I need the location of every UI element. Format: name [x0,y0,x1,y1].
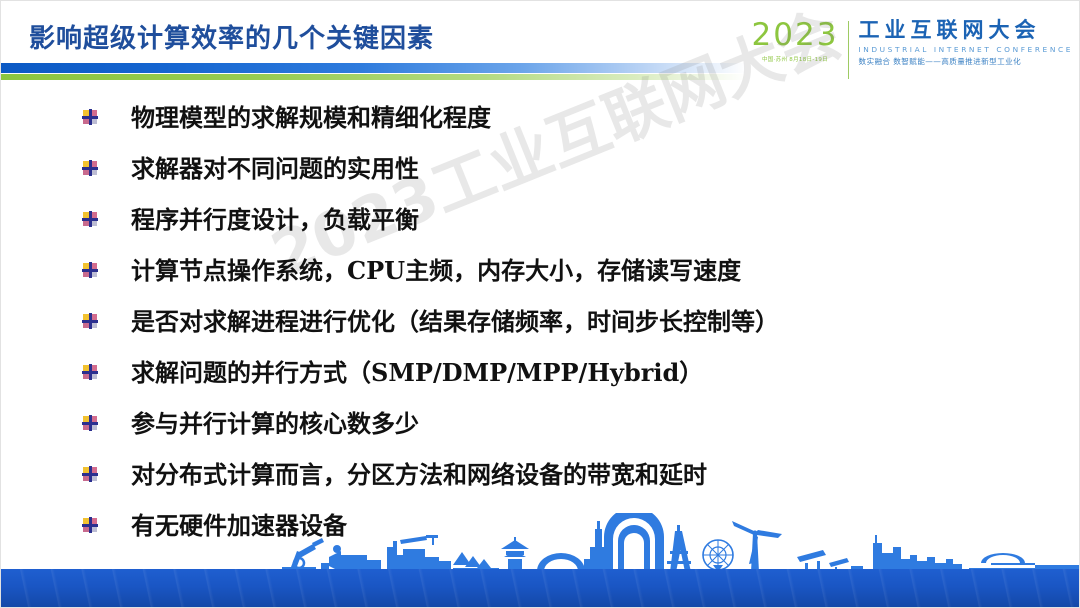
list-item-label: 计算节点操作系统，CPU主频，内存大小，存储读写速度 [131,252,741,290]
bullet-list: 物理模型的求解规模和精细化程度 求解器对不同问题的实用性 程序并行度设计，负载平… [83,99,1033,558]
list-item: 对分布式计算而言，分区方法和网络设备的带宽和延时 [83,456,1033,507]
header-rule-blue [1,63,746,73]
list-item-label: 求解问题的并行方式（SMP/DMP/MPP/Hybrid） [131,354,703,392]
list-item-label: 程序并行度设计，负载平衡 [131,201,419,239]
list-item: 是否对求解进程进行优化（结果存储频率，时间步长控制等） [83,303,1033,354]
logo-year-block: 2023 中国·苏州 8月18日-19日 [752,19,849,63]
bullet-cross-icon [83,416,97,430]
conference-logo: 2023 中国·苏州 8月18日-19日 工业互联网大会 INDUSTRIAL … [752,19,1073,81]
logo-year: 2023 [752,19,839,52]
list-item: 程序并行度设计，负载平衡 [83,201,1033,252]
bullet-cross-icon [83,110,97,124]
water-shine-overlay [1,569,1080,607]
logo-tagline: 数实融合 数智赋能——高质量推进新型工业化 [858,56,1073,67]
bullet-cross-icon [83,263,97,277]
page-title: 影响超级计算效率的几个关键因素 [29,18,434,55]
list-item: 求解器对不同问题的实用性 [83,150,1033,201]
logo-date-location: 中国·苏州 8月18日-19日 [762,55,828,63]
city-skyline-icon [1,513,1080,575]
bullet-cross-icon [83,161,97,175]
bullet-cross-icon [83,365,97,379]
logo-name-chinese: 工业互联网大会 [858,19,1073,43]
list-item: 求解问题的并行方式（SMP/DMP/MPP/Hybrid） [83,354,1033,405]
presentation-slide: 影响超级计算效率的几个关键因素 2023 中国·苏州 8月18日-19日 工业互… [0,0,1080,608]
logo-name-english: INDUSTRIAL INTERNET CONFERENCE [858,45,1073,54]
logo-divider [848,21,849,79]
list-item-label: 物理模型的求解规模和精细化程度 [131,99,491,137]
bullet-cross-icon [83,212,97,226]
bullet-cross-icon [83,314,97,328]
list-item-label: 参与并行计算的核心数多少 [131,405,419,443]
list-item: 参与并行计算的核心数多少 [83,405,1033,456]
footer-decoration [1,515,1080,607]
slide-header: 影响超级计算效率的几个关键因素 2023 中国·苏州 8月18日-19日 工业互… [1,1,1080,93]
bullet-cross-icon [83,467,97,481]
header-rule-green [1,74,746,80]
logo-name-block: 工业互联网大会 INDUSTRIAL INTERNET CONFERENCE 数… [858,19,1073,67]
list-item-label: 对分布式计算而言，分区方法和网络设备的带宽和延时 [131,456,707,494]
list-item: 物理模型的求解规模和精细化程度 [83,99,1033,150]
list-item-label: 求解器对不同问题的实用性 [131,150,419,188]
list-item-label: 是否对求解进程进行优化（结果存储频率，时间步长控制等） [131,303,779,341]
list-item: 计算节点操作系统，CPU主频，内存大小，存储读写速度 [83,252,1033,303]
